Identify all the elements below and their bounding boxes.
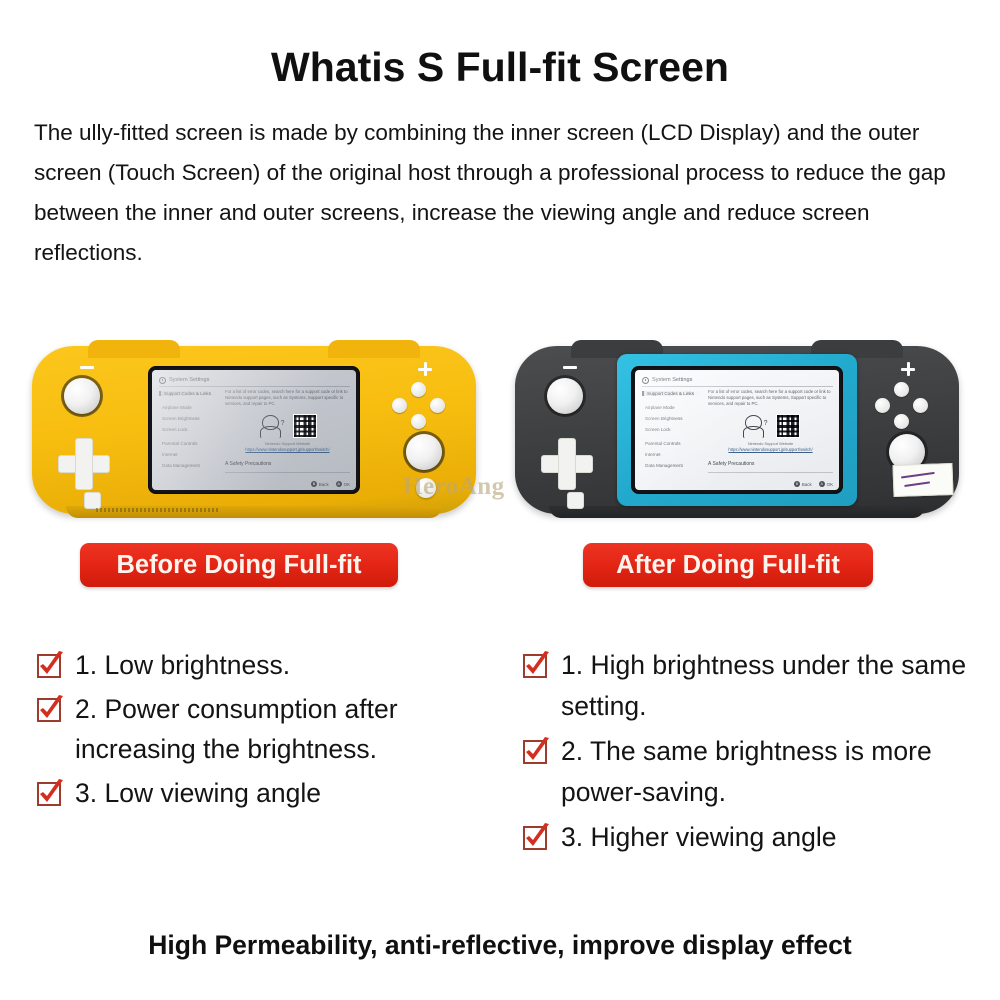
screen-bezel: System Settings Support Codes & Links Ai…	[148, 366, 360, 494]
checkmark-icon	[522, 651, 552, 679]
pane-caption: Nintendo Support Website	[225, 441, 350, 446]
pane-divider	[708, 472, 833, 473]
menu-item-support-codes: Support Codes & Links	[159, 391, 221, 396]
checkmark-icon	[36, 779, 66, 807]
gear-icon	[642, 377, 649, 384]
ok-button: A OK	[336, 481, 350, 487]
menu-item-airplane-mode: Airplane Mode	[642, 405, 704, 410]
handwritten-sticker	[892, 463, 953, 497]
list-item-text: 1. Low brightness.	[75, 645, 290, 685]
qr-code-icon	[293, 414, 317, 438]
system-settings-header: System Settings	[159, 374, 350, 387]
a-button-icon: A	[819, 481, 825, 487]
menu-item-airplane-mode: Airplane Mode	[159, 405, 221, 410]
left-analog-stick	[547, 378, 583, 414]
ok-button-label: OK	[827, 482, 833, 487]
dpad	[541, 438, 591, 488]
back-button: B Back	[794, 481, 812, 487]
menu-item-support-codes: Support Codes & Links	[642, 391, 704, 396]
infographic-page: Whatis S Full-fit Screen The ully-fitted…	[0, 0, 1000, 1000]
abxy-buttons	[392, 382, 446, 430]
mii-character-icon: ?	[259, 414, 285, 438]
console-screen-bright: System Settings Support Codes & Links Ai…	[635, 370, 839, 490]
pane-safety-precautions: A Safety Precautions	[708, 461, 833, 467]
system-settings-title: System Settings	[652, 377, 692, 383]
console-screen-dim: System Settings Support Codes & Links Ai…	[152, 370, 356, 490]
checkmark-icon	[36, 651, 66, 679]
right-analog-stick	[406, 434, 442, 470]
pane-graphics: ?	[225, 414, 350, 438]
menu-item-screen-lock: Screen Lock	[159, 427, 221, 432]
ok-button-label: OK	[344, 482, 350, 487]
back-button: B Back	[311, 481, 329, 487]
pane-description: For a list of error codes, search here f…	[225, 389, 350, 407]
system-settings-body: Support Codes & Links Airplane Mode Scre…	[642, 389, 833, 476]
list-item-text: 3. Higher viewing angle	[561, 817, 836, 858]
console-photo-before: System Settings Support Codes & Links Ai…	[22, 330, 502, 535]
menu-item-internet: Internet	[642, 452, 704, 457]
list-item-text: 2. Power consumption after increasing th…	[75, 689, 506, 769]
menu-item-screen-brightness: Screen Brightness	[642, 416, 704, 421]
system-settings-header: System Settings	[642, 374, 833, 387]
menu-item-parental-controls: Parental Controls	[642, 441, 704, 446]
abxy-buttons	[875, 382, 929, 430]
shoulder-button-left	[88, 340, 180, 358]
pane-safety-precautions: A Safety Precautions	[225, 461, 350, 467]
checkmark-icon	[522, 823, 552, 851]
b-button-icon: B	[311, 481, 317, 487]
mii-character-icon: ?	[742, 414, 768, 438]
left-analog-stick	[64, 378, 100, 414]
system-settings-title: System Settings	[169, 377, 209, 383]
console-bottom-lip	[549, 506, 925, 518]
a-button-icon: A	[336, 481, 342, 487]
badge-before: Before Doing Full-fit	[80, 543, 398, 587]
list-before: 1. Low brightness. 2. Power consumption …	[36, 645, 506, 817]
console-body-dark: System Settings Support Codes & Links Ai…	[515, 346, 959, 514]
list-item-text: 2. The same brightness is more power-sav…	[561, 731, 992, 813]
checkmark-icon	[522, 737, 552, 765]
pane-graphics: ?	[708, 414, 833, 438]
settings-menu: Support Codes & Links Airplane Mode Scre…	[642, 389, 704, 476]
dpad	[58, 438, 108, 488]
minus-button-icon	[563, 366, 577, 369]
plus-button-icon	[418, 362, 432, 376]
back-button-label: Back	[319, 482, 329, 487]
pane-support-link: https://www.nintendosupport.jp/support/s…	[225, 447, 350, 452]
menu-item-data-management: Data Management	[642, 463, 704, 468]
comparison-photos: System Settings Support Codes & Links Ai…	[0, 330, 1000, 535]
list-item: 3. Higher viewing angle	[522, 817, 992, 858]
checkmark-icon	[36, 695, 66, 723]
pane-divider	[225, 472, 350, 473]
footer-tagline: High Permeability, anti-reflective, impr…	[0, 930, 1000, 961]
settings-detail-pane: For a list of error codes, search here f…	[704, 389, 833, 476]
back-button-label: Back	[802, 482, 812, 487]
list-item-text: 1. High brightness under the same settin…	[561, 645, 992, 727]
list-item: 1. Low brightness.	[36, 645, 506, 685]
page-title: Whatis S Full-fit Screen	[0, 44, 1000, 91]
minus-button-icon	[80, 366, 94, 369]
list-after: 1. High brightness under the same settin…	[522, 645, 992, 862]
intro-paragraph: The ully-fitted screen is made by combin…	[34, 113, 974, 273]
menu-item-screen-lock: Screen Lock	[642, 427, 704, 432]
ok-button: A OK	[819, 481, 833, 487]
list-item: 2. The same brightness is more power-sav…	[522, 731, 992, 813]
capture-button	[84, 492, 101, 509]
shoulder-button-right	[328, 340, 420, 358]
gear-icon	[159, 377, 166, 384]
pane-description: For a list of error codes, search here f…	[708, 389, 833, 407]
list-item-text: 3. Low viewing angle	[75, 773, 321, 813]
badge-after: After Doing Full-fit	[583, 543, 873, 587]
menu-item-internet: Internet	[159, 452, 221, 457]
console-photo-after: System Settings Support Codes & Links Ai…	[505, 330, 985, 535]
watermark-text: HeroAng	[403, 473, 505, 501]
list-item: 2. Power consumption after increasing th…	[36, 689, 506, 769]
plus-button-icon	[901, 362, 915, 376]
menu-item-parental-controls: Parental Controls	[159, 441, 221, 446]
console-bottom-fine-print	[96, 508, 218, 512]
pane-support-link: https://www.nintendosupport.jp/support/s…	[708, 447, 833, 452]
screen-footer-buttons: B Back A OK	[794, 481, 833, 487]
system-settings-body: Support Codes & Links Airplane Mode Scre…	[159, 389, 350, 476]
capture-button	[567, 492, 584, 509]
list-item: 3. Low viewing angle	[36, 773, 506, 813]
pane-caption: Nintendo Support Website	[708, 441, 833, 446]
screen-footer-buttons: B Back A OK	[311, 481, 350, 487]
screen-bezel: System Settings Support Codes & Links Ai…	[631, 366, 843, 494]
menu-item-screen-brightness: Screen Brightness	[159, 416, 221, 421]
settings-detail-pane: For a list of error codes, search here f…	[221, 389, 350, 476]
settings-menu: Support Codes & Links Airplane Mode Scre…	[159, 389, 221, 476]
qr-code-icon	[776, 414, 800, 438]
list-item: 1. High brightness under the same settin…	[522, 645, 992, 727]
b-button-icon: B	[794, 481, 800, 487]
menu-item-data-management: Data Management	[159, 463, 221, 468]
